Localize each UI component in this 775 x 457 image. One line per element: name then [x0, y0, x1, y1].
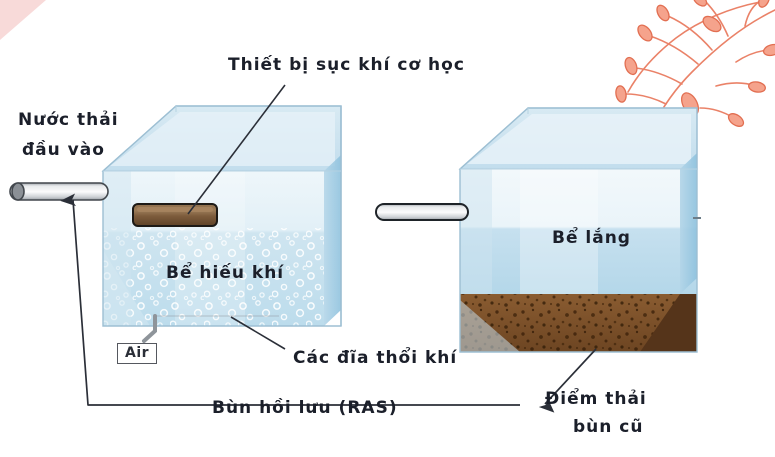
aeration-tank	[103, 106, 341, 341]
label-ras: Bùn hồi lưu (RAS)	[212, 398, 398, 420]
label-aeration-tank: Bể hiếu khí	[166, 263, 284, 285]
label-influent-line2: đầu vào	[22, 140, 105, 162]
diagram-canvas: Thiết bị sục khí cơ học Nước thải đầu và…	[0, 0, 775, 457]
label-air-diffusers: Các đĩa thổi khí	[293, 348, 457, 370]
label-air-box: Air	[117, 343, 157, 364]
label-waste-sludge-line2: bùn cũ	[573, 417, 643, 439]
corner-accent-triangle	[0, 0, 46, 40]
label-waste-sludge-line1: Điểm thải	[545, 389, 647, 411]
label-mechanical-aerator: Thiết bị sục khí cơ học	[228, 55, 465, 77]
connector-pipe	[376, 204, 468, 220]
mechanical-aerator	[133, 204, 217, 226]
label-settling-tank: Bể lắng	[552, 228, 631, 250]
settled-sludge-layer	[455, 290, 775, 356]
inlet-pipe	[10, 183, 108, 200]
label-influent-line1: Nước thải	[18, 110, 119, 132]
